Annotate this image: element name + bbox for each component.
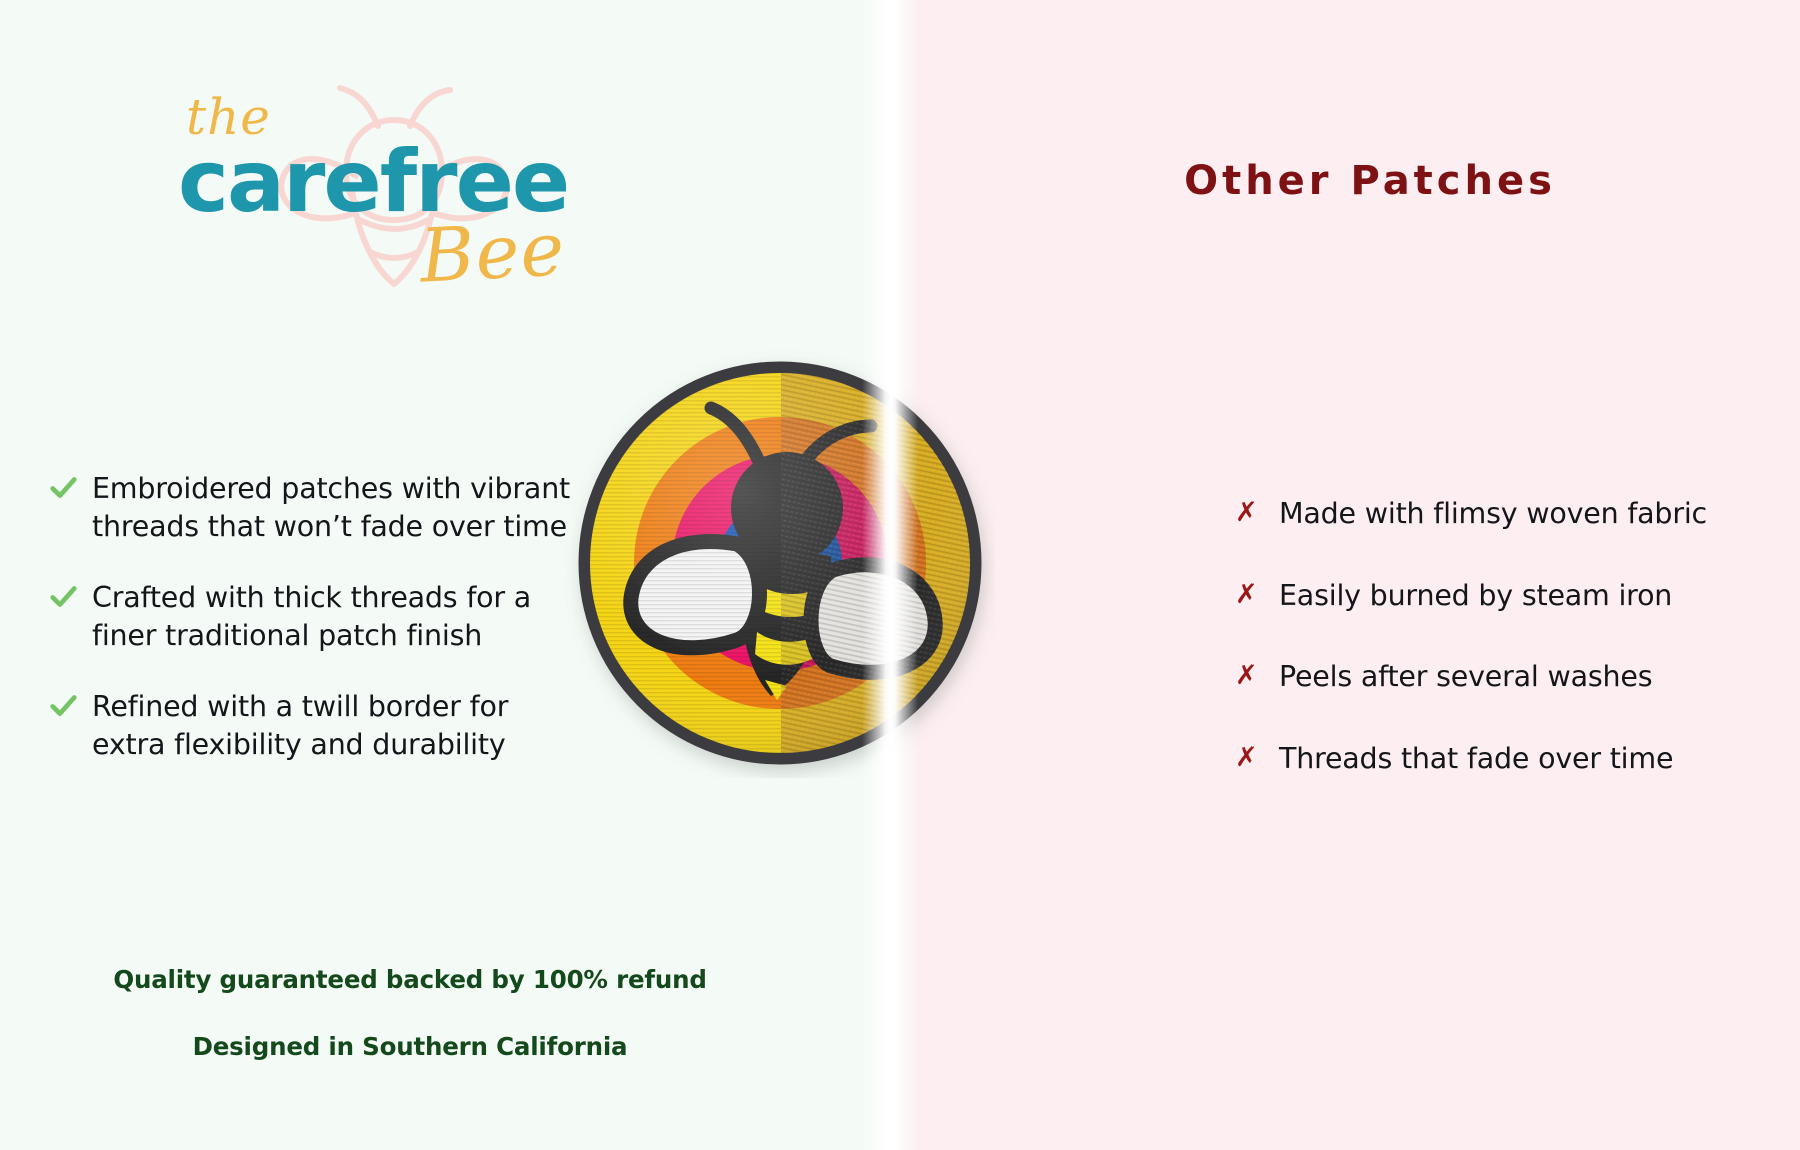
check-icon — [50, 585, 84, 609]
cons-list: ✗ Made with flimsy woven fabric ✗ Easily… — [1235, 495, 1765, 821]
cross-icon: ✗ — [1235, 499, 1269, 526]
cross-icon: ✗ — [1235, 662, 1269, 689]
guarantee-line: Quality guaranteed backed by 100% refund — [40, 965, 780, 994]
list-item: Crafted with thick threads for a finer t… — [50, 579, 580, 654]
list-item: ✗ Made with flimsy woven fabric — [1235, 495, 1765, 533]
check-icon — [50, 476, 84, 500]
list-item-label: Peels after several washes — [1279, 658, 1652, 696]
list-item-label: Threads that fade over time — [1279, 740, 1673, 778]
brand-logo: the carefree Bee — [150, 80, 670, 320]
check-icon — [50, 694, 84, 718]
pros-list: Embroidered patches with vibrant threads… — [50, 470, 580, 798]
guarantee-notes: Quality guaranteed backed by 100% refund… — [40, 965, 780, 1061]
list-item: ✗ Peels after several washes — [1235, 658, 1765, 696]
origin-line: Designed in Southern California — [40, 1032, 780, 1061]
list-item: ✗ Threads that fade over time — [1235, 740, 1765, 778]
list-item-label: Embroidered patches with vibrant threads… — [92, 470, 580, 545]
patch-comparison-board: the carefree Bee Embroidered patches wit… — [0, 0, 1800, 1150]
cross-icon: ✗ — [1235, 581, 1269, 608]
logo-word-bee: Bee — [418, 206, 567, 299]
list-item-label: Refined with a twill border for extra fl… — [92, 688, 580, 763]
bee-patch-image — [565, 348, 995, 778]
list-item: ✗ Easily burned by steam iron — [1235, 577, 1765, 615]
list-item-label: Crafted with thick threads for a finer t… — [92, 579, 580, 654]
list-item-label: Easily burned by steam iron — [1279, 577, 1672, 615]
list-item: Embroidered patches with vibrant threads… — [50, 470, 580, 545]
list-item: Refined with a twill border for extra fl… — [50, 688, 580, 763]
cross-icon: ✗ — [1235, 744, 1269, 771]
list-item-label: Made with flimsy woven fabric — [1279, 495, 1707, 533]
page-title: Other Patches — [1010, 158, 1730, 204]
